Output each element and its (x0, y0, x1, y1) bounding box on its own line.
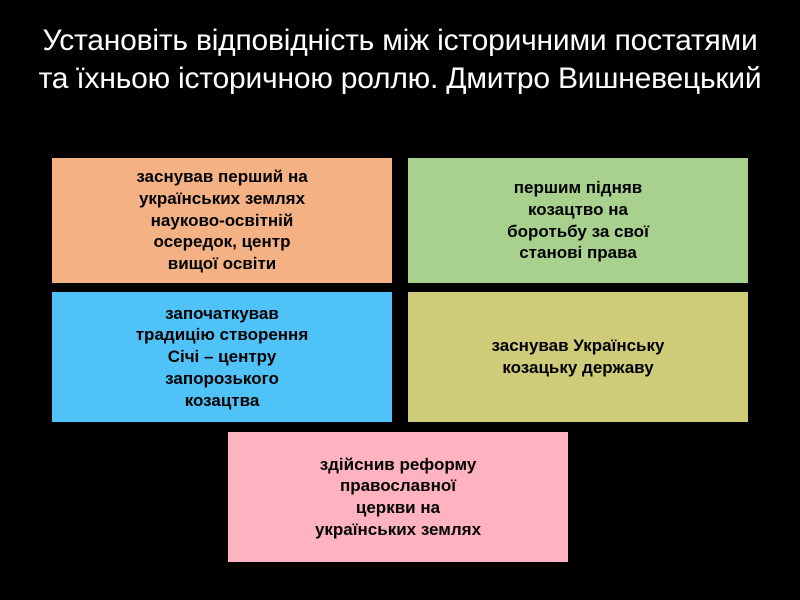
page-title: Установіть відповідність між історичними… (30, 22, 770, 97)
answer-option-2[interactable]: першим підняв козацтво на боротьбу за св… (408, 158, 748, 283)
answer-option-4[interactable]: заснував Українську козацьку державу (408, 292, 748, 422)
answer-option-3[interactable]: започаткував традицію створення Січі – ц… (52, 292, 392, 422)
answer-option-1[interactable]: заснував перший на українських землях на… (52, 158, 392, 283)
slide-canvas: Установіть відповідність між історичними… (0, 0, 800, 600)
answer-option-5[interactable]: здійснив реформу православної церкви на … (228, 432, 568, 562)
